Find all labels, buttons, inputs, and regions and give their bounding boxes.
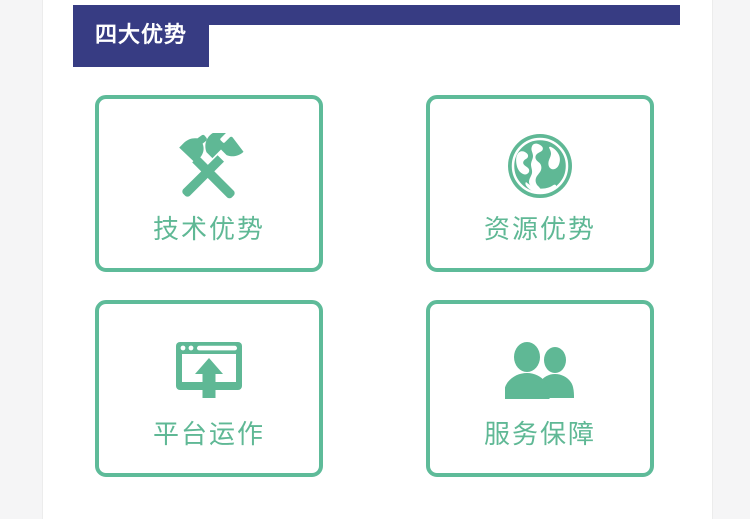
advantages-card-grid: 技术优势 (95, 95, 707, 477)
page-root: 四大优势 (0, 0, 750, 519)
advantage-card-service[interactable]: 服务保障 (426, 300, 654, 477)
advantage-card-label: 服务保障 (484, 422, 596, 448)
page-title: 四大优势 (95, 25, 187, 47)
content-sheet: 四大优势 (42, 0, 713, 519)
hammer-wrench-icon (173, 129, 245, 203)
globe-icon (507, 129, 573, 203)
advantage-card-label: 平台运作 (153, 422, 265, 448)
section-heading-block: 四大优势 (73, 5, 209, 67)
advantage-card-technology[interactable]: 技术优势 (95, 95, 323, 272)
advantage-card-label: 资源优势 (484, 217, 596, 243)
advantage-card-platform[interactable]: 平台运作 (95, 300, 323, 477)
two-people-icon (505, 334, 575, 408)
browser-upload-icon (176, 334, 242, 408)
advantage-card-resources[interactable]: 资源优势 (426, 95, 654, 272)
advantage-card-label: 技术优势 (153, 217, 265, 243)
